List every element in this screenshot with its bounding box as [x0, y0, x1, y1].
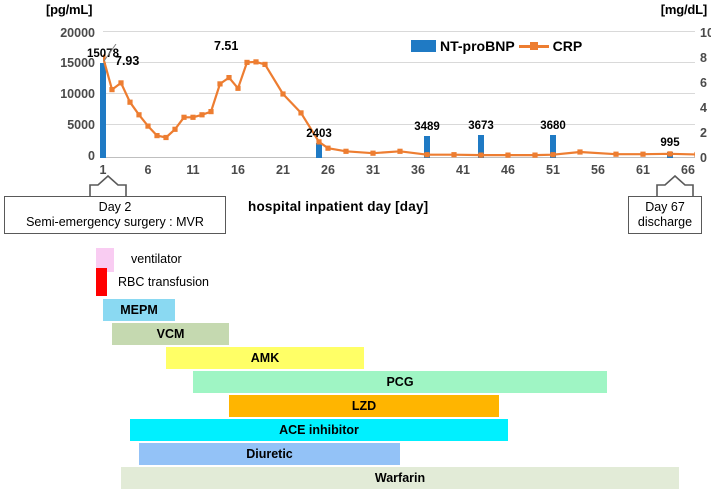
medication-bar-vcm: VCM: [112, 323, 229, 345]
rbc-transfusion-marker-label: RBC transfusion: [118, 275, 209, 289]
x-tick-51: 51: [538, 163, 568, 177]
bnp-value-label-day-37: 3489: [404, 121, 450, 133]
legend-label-bnp: NT-proBNP: [440, 38, 515, 54]
medication-bar-warfarin: Warfarin: [121, 467, 679, 489]
medication-label: MEPM: [120, 303, 158, 317]
x-tick-21: 21: [268, 163, 298, 177]
crp-leader-line: [100, 44, 122, 66]
ventilator-marker-label: ventilator: [131, 252, 182, 266]
right-axis-unit: [mg/dL]: [661, 2, 707, 17]
x-tick-36: 36: [403, 163, 433, 177]
bnp-value-label-day-51: 3680: [530, 120, 576, 132]
discharge-callout-line1: Day 67: [629, 200, 701, 215]
medication-bar-mepm: MEPM: [103, 299, 175, 321]
surgery-callout-line1: Day 2: [5, 200, 225, 215]
y-left-tick-0: 0: [41, 149, 95, 163]
bnp-legend-swatch-icon: [411, 40, 436, 52]
medication-label: ACE inhibitor: [279, 423, 359, 437]
medication-label: VCM: [157, 327, 185, 341]
bnp-value-label-day-25: 2403: [296, 128, 342, 140]
medication-bar-diuretic: Diuretic: [139, 443, 400, 465]
x-tick-11: 11: [178, 163, 208, 177]
medication-bar-lzd: LZD: [229, 395, 499, 417]
x-axis-title: hospital inpatient day [day]: [248, 199, 428, 214]
medication-bar-pcg: PCG: [193, 371, 607, 393]
medication-bar-ace-inhibitor: ACE inhibitor: [130, 419, 508, 441]
medication-label: AMK: [251, 351, 279, 365]
rbc-transfusion-marker: [96, 268, 107, 296]
discharge-callout: Day 67 discharge: [628, 196, 702, 234]
x-tick-31: 31: [358, 163, 388, 177]
left-axis-unit: [pg/mL]: [46, 2, 92, 17]
crp-value-label-day17: 7.51: [214, 39, 238, 53]
x-tick-26: 26: [313, 163, 343, 177]
chart-plot-area: [103, 31, 695, 158]
x-tick-6: 6: [133, 163, 163, 177]
crp-legend-swatch-icon: [519, 40, 549, 52]
y-right-tick-4: 4: [700, 101, 711, 115]
x-tick-16: 16: [223, 163, 253, 177]
y-right-tick-8: 8: [700, 51, 711, 65]
y-right-tick-6: 6: [700, 76, 711, 90]
medication-label: Diuretic: [246, 447, 293, 461]
y-left-tick-5000: 5000: [41, 118, 95, 132]
x-tick-61: 61: [628, 163, 658, 177]
discharge-callout-line2: discharge: [629, 215, 701, 230]
x-tick-56: 56: [583, 163, 613, 177]
crp-line-series: [103, 31, 695, 158]
legend-label-crp: CRP: [553, 38, 583, 54]
y-right-tick-10: 10: [700, 26, 711, 40]
medication-label: PCG: [386, 375, 413, 389]
y-left-tick-10000: 10000: [41, 87, 95, 101]
x-tick-46: 46: [493, 163, 523, 177]
chart-legend: NT-proBNP CRP: [411, 38, 582, 54]
surgery-callout: Day 2 Semi-emergency surgery : MVR: [4, 196, 226, 234]
x-tick-41: 41: [448, 163, 478, 177]
medication-label: LZD: [352, 399, 376, 413]
surgery-callout-line2: Semi-emergency surgery : MVR: [5, 215, 225, 230]
bnp-value-label-day-64: 995: [647, 137, 693, 149]
medication-bar-amk: AMK: [166, 347, 364, 369]
bnp-value-label-day-43: 3673: [458, 120, 504, 132]
medication-label: Warfarin: [375, 471, 425, 485]
figure-root: [pg/mL] [mg/dL] 20000 15000 10000 5000 0…: [0, 0, 711, 492]
y-right-tick-2: 2: [700, 126, 711, 140]
y-left-tick-20000: 20000: [41, 26, 95, 40]
